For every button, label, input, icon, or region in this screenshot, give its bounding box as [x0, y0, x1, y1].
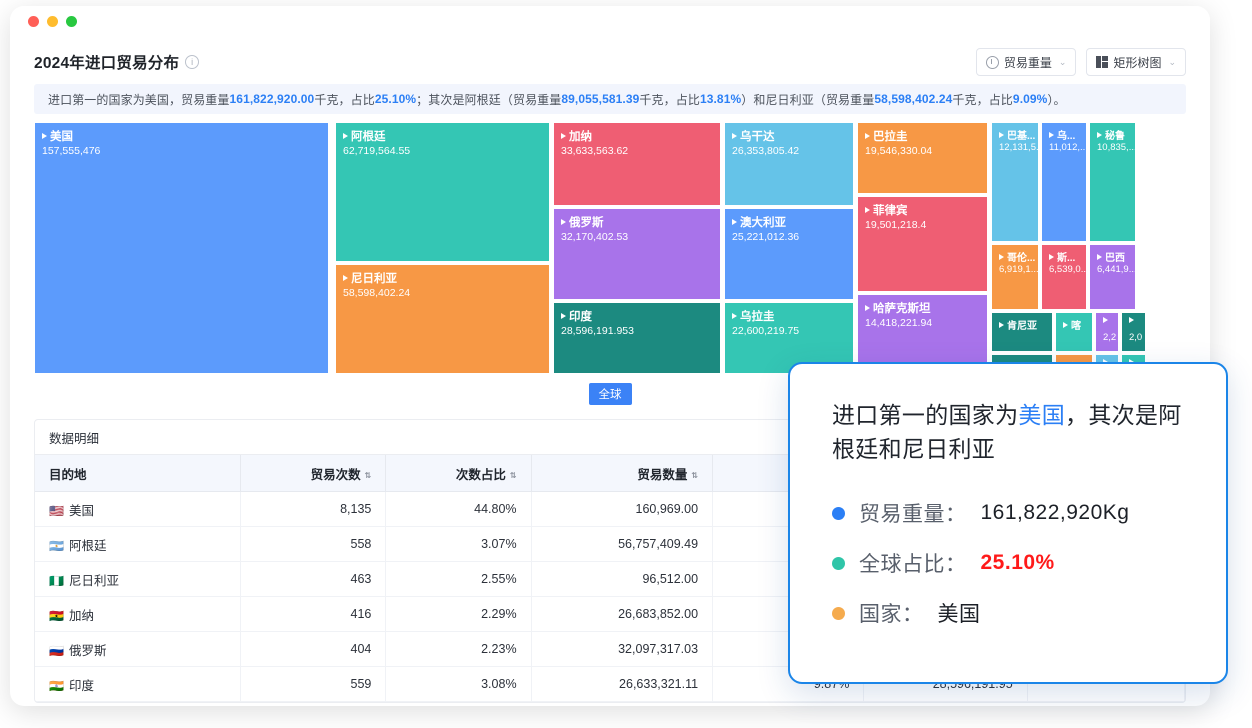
- banner-value-6: 9.09%: [1013, 92, 1048, 106]
- card-header: 2024年进口贸易分布 i 贸易重量 ⌄ 矩形树图 ⌄: [34, 42, 1186, 82]
- tooltip-title-part-1: 进口第一的国家为: [832, 402, 1018, 428]
- table-cell-destination: 🇷🇺俄罗斯: [35, 632, 241, 667]
- banner-part-4: 千克，占比: [639, 91, 700, 108]
- treemap-tile-name: 巴基...: [1007, 127, 1035, 142]
- treemap-tile-name: 肯尼亚: [1007, 317, 1037, 332]
- table-cell-destination: 🇮🇳印度: [35, 667, 241, 702]
- table-column-label: 贸易次数: [311, 468, 361, 482]
- treemap-tile-value: 22,600,219.75: [732, 325, 799, 337]
- table-cell-qty: 26,633,321.11: [531, 667, 713, 702]
- caret-right-icon: [732, 133, 737, 139]
- caret-right-icon: [561, 219, 566, 225]
- treemap-tile[interactable]: 2,2: [1095, 312, 1119, 352]
- treemap-tile-value: 11,012,...: [1049, 142, 1087, 153]
- treemap-tile-label: 巴拉圭: [865, 128, 908, 144]
- tooltip-metric-value: 161,822,920Kg: [981, 501, 1130, 525]
- treemap-tile-name: 秘鲁: [1105, 127, 1125, 142]
- treemap-tile[interactable]: 巴基...12,131,5...: [991, 122, 1039, 242]
- treemap-tile[interactable]: 美国157,555,476: [34, 122, 329, 374]
- treemap-tile-value: 58,598,402.24: [343, 287, 410, 299]
- treemap-tile-value: 6,539,0...: [1049, 264, 1087, 275]
- table-column-label: 贸易数量: [637, 468, 687, 482]
- treemap-tile-label: 加纳: [561, 128, 592, 144]
- window-minimize-button[interactable]: [47, 16, 58, 27]
- treemap-tile-label: 菲律宾: [865, 202, 908, 218]
- treemap-tile-name: 菲律宾: [873, 202, 908, 218]
- chart-type-select-label: 矩形树图: [1113, 54, 1161, 71]
- destination-name: 尼日利亚: [69, 574, 119, 588]
- treemap-tile-value: 14,418,221.94: [865, 317, 932, 329]
- treemap-tile-name: 巴拉圭: [873, 128, 908, 144]
- info-icon[interactable]: i: [185, 55, 199, 69]
- tooltip-bullet-icon: [832, 607, 845, 620]
- treemap-tile-value: 19,501,218.4: [865, 219, 926, 231]
- treemap-tile[interactable]: 俄罗斯32,170,402.53: [553, 208, 721, 300]
- caret-right-icon: [999, 254, 1004, 260]
- chevron-down-icon: ⌄: [1168, 57, 1176, 68]
- treemap-tile-name: 斯...: [1057, 249, 1075, 264]
- tooltip-metric-label: 贸易重量：: [859, 498, 967, 528]
- tooltip-title-highlight: 美国: [1018, 402, 1065, 428]
- sort-icon[interactable]: ⇅: [510, 472, 517, 480]
- treemap-tile-label: 俄罗斯: [561, 214, 604, 230]
- treemap-tile-value: 2,0: [1129, 332, 1142, 343]
- country-flag-icon: 🇬🇭: [49, 609, 64, 623]
- treemap-tile-value: 19,546,330.04: [865, 145, 932, 157]
- sort-icon[interactable]: ⇅: [691, 472, 698, 480]
- table-cell-trade-pct: 44.80%: [386, 492, 531, 527]
- caret-right-icon: [865, 305, 870, 311]
- treemap-tile-value: 12,131,5...: [999, 142, 1039, 153]
- treemap-tile-value: 157,555,476: [42, 145, 100, 157]
- country-flag-icon: 🇮🇳: [49, 679, 64, 693]
- treemap-tile-name: 哥伦...: [1007, 249, 1035, 264]
- treemap-tile-label: 阿根廷: [343, 128, 386, 144]
- table-cell-destination: 🇺🇸美国: [35, 492, 241, 527]
- caret-right-icon: [343, 275, 348, 281]
- banner-value-2: 25.10%: [375, 92, 416, 106]
- caret-right-icon: [561, 313, 566, 319]
- caret-right-icon: [1097, 254, 1102, 260]
- treemap-tile[interactable]: 印度28,596,191.953: [553, 302, 721, 374]
- country-flag-icon: 🇦🇷: [49, 539, 64, 553]
- treemap-tile-name: 哈萨克斯坦: [873, 300, 931, 316]
- caret-right-icon: [1129, 317, 1134, 323]
- table-cell-qty: 32,097,317.03: [531, 632, 713, 667]
- caret-right-icon: [1063, 322, 1068, 328]
- table-cell-trades: 404: [241, 632, 386, 667]
- destination-name: 阿根廷: [69, 539, 107, 553]
- treemap-tile[interactable]: 澳大利亚25,221,012.36: [724, 208, 854, 300]
- destination-name: 印度: [69, 679, 94, 693]
- country-flag-icon: 🇳🇬: [49, 574, 64, 588]
- tooltip-title: 进口第一的国家为美国，其次是阿根廷和尼日利亚: [832, 398, 1196, 466]
- caret-right-icon: [343, 133, 348, 139]
- treemap-tile-name: 阿根廷: [351, 128, 386, 144]
- caret-right-icon: [865, 207, 870, 213]
- treemap-tile[interactable]: 2,0: [1121, 312, 1146, 352]
- treemap-tile-name: 乌拉圭: [740, 308, 775, 324]
- table-column-label: 次数占比: [456, 468, 506, 482]
- caret-right-icon: [999, 322, 1004, 328]
- treemap-tile-value: 2,2: [1103, 332, 1116, 343]
- treemap-tile-value: 6,441,9...: [1097, 264, 1136, 275]
- header-actions: 贸易重量 ⌄ 矩形树图 ⌄: [976, 48, 1186, 76]
- treemap-tile-name: 加纳: [569, 128, 592, 144]
- metric-select-button[interactable]: 贸易重量 ⌄: [976, 48, 1077, 76]
- banner-value-3: 89,055,581.39: [561, 92, 639, 106]
- tooltip-metric-label: 全球占比：: [859, 548, 967, 578]
- tooltip-metric-value: 美国: [938, 598, 981, 628]
- treemap-tile[interactable]: 加纳33,633,563.62: [553, 122, 721, 206]
- treemap-tile-label: [1103, 317, 1111, 323]
- treemap-tile[interactable]: 秘鲁10,835,...: [1089, 122, 1136, 242]
- table-column-header: 目的地: [35, 455, 241, 492]
- treemap-chart[interactable]: 美国157,555,476阿根廷62,719,564.55尼日利亚58,598,…: [34, 122, 1146, 374]
- treemap-tile-label: 印度: [561, 308, 592, 324]
- sort-icon[interactable]: ⇅: [365, 472, 372, 480]
- table-column-header[interactable]: 贸易次数⇅: [241, 455, 386, 492]
- treemap-tile-name: 巴西: [1105, 249, 1125, 264]
- destination-name: 美国: [69, 504, 94, 518]
- table-cell-qty: 96,512.00: [531, 562, 713, 597]
- treemap-tile-label: 秘鲁: [1097, 127, 1125, 142]
- treemap-tile-value: 6,919,1...: [999, 264, 1039, 275]
- treemap-tile-value: 26,353,805.42: [732, 145, 799, 157]
- banner-value-1: 161,822,920.00: [230, 92, 315, 106]
- treemap-tile-label: [1129, 317, 1137, 323]
- table-cell-trades: 559: [241, 667, 386, 702]
- metric-select-label: 贸易重量: [1004, 54, 1052, 71]
- table-cell-trade-pct: 2.23%: [386, 632, 531, 667]
- treemap-tile-label: 肯尼亚: [999, 317, 1037, 332]
- banner-value-5: 58,598,402.24: [874, 92, 952, 106]
- caret-right-icon: [999, 132, 1004, 138]
- tooltip-metric-row: 全球占比：25.10%: [832, 538, 1196, 588]
- treemap-tile[interactable]: 哥伦...6,919,1...: [991, 244, 1039, 310]
- caret-right-icon: [732, 219, 737, 225]
- banner-part-6: 千克，占比: [952, 91, 1013, 108]
- window-close-button[interactable]: [28, 16, 39, 27]
- table-column-header[interactable]: 次数占比⇅: [386, 455, 531, 492]
- treemap-tile-label: 尼日利亚: [343, 270, 397, 286]
- tooltip-metric-row: 贸易重量：161,822,920Kg: [832, 488, 1196, 538]
- table-cell-qty: 26,683,852.00: [531, 597, 713, 632]
- chart-tooltip-popup: 进口第一的国家为美国，其次是阿根廷和尼日利亚 贸易重量：161,822,920K…: [788, 362, 1228, 684]
- destination-name: 俄罗斯: [69, 644, 107, 658]
- table-cell-trades: 416: [241, 597, 386, 632]
- caret-right-icon: [561, 133, 566, 139]
- treemap-tile[interactable]: 尼日利亚58,598,402.24: [335, 264, 550, 374]
- treemap-tile-label: 巴基...: [999, 127, 1035, 142]
- treemap-tile-label: 乌拉圭: [732, 308, 775, 324]
- country-flag-icon: 🇷🇺: [49, 644, 64, 658]
- tooltip-metric-label: 国家：: [859, 598, 924, 628]
- treemap-tile-label: 巴西: [1097, 249, 1125, 264]
- chart-type-select-button[interactable]: 矩形树图 ⌄: [1086, 48, 1186, 76]
- banner-part-1: 进口第一的国家为美国，贸易重量: [48, 91, 230, 108]
- banner-part-5: ）和尼日利亚（贸易重量: [741, 91, 874, 108]
- tooltip-bullet-icon: [832, 557, 845, 570]
- summary-banner: 进口第一的国家为美国，贸易重量161,822,920.00千克，占比25.10%…: [34, 84, 1186, 114]
- caret-right-icon: [1103, 317, 1108, 323]
- chevron-down-icon: ⌄: [1059, 57, 1067, 68]
- caret-right-icon: [42, 133, 47, 139]
- table-cell-destination: 🇦🇷阿根廷: [35, 527, 241, 562]
- treemap-tile-label: 乌...: [1049, 127, 1075, 142]
- treemap-tile-name: 乌干达: [740, 128, 775, 144]
- tooltip-metric-row: 国家：美国: [832, 588, 1196, 638]
- treemap-tile[interactable]: 斯...6,539,0...: [1041, 244, 1087, 310]
- treemap-tile[interactable]: 菲律宾19,501,218.4: [857, 196, 988, 292]
- treemap-tile-name: 尼日利亚: [351, 270, 397, 286]
- window-zoom-button[interactable]: [66, 16, 77, 27]
- treemap-tile-name: 印度: [569, 308, 592, 324]
- caret-right-icon: [1097, 132, 1102, 138]
- banner-part-2: 千克，占比: [314, 91, 375, 108]
- treemap-tile[interactable]: 喀: [1055, 312, 1093, 352]
- banner-part-3: ；其次是阿根廷（贸易重量: [416, 91, 561, 108]
- table-cell-trade-pct: 3.07%: [386, 527, 531, 562]
- treemap-tile-label: 乌干达: [732, 128, 775, 144]
- treemap-tile-label: 澳大利亚: [732, 214, 786, 230]
- global-scope-button[interactable]: 全球: [589, 383, 632, 405]
- treemap-tile-value: 33,633,563.62: [561, 145, 628, 157]
- treemap-tile[interactable]: 巴西6,441,9...: [1089, 244, 1136, 310]
- treemap-tile[interactable]: 乌...11,012,...: [1041, 122, 1087, 242]
- page-title-row: 2024年进口贸易分布 i: [34, 51, 199, 73]
- treemap-tile-name: 澳大利亚: [740, 214, 786, 230]
- treemap-tile-name: 美国: [50, 128, 73, 144]
- country-flag-icon: 🇺🇸: [49, 504, 64, 518]
- destination-name: 加纳: [69, 609, 94, 623]
- table-cell-qty: 56,757,409.49: [531, 527, 713, 562]
- caret-right-icon: [865, 133, 870, 139]
- treemap-tile-label: 哥伦...: [999, 249, 1035, 264]
- caret-right-icon: [732, 313, 737, 319]
- treemap-tile-name: 乌...: [1057, 127, 1075, 142]
- table-cell-trades: 8,135: [241, 492, 386, 527]
- clock-icon: [986, 56, 999, 69]
- treemap-tile-value: 62,719,564.55: [343, 145, 410, 157]
- caret-right-icon: [1049, 254, 1054, 260]
- treemap-tile-value: 25,221,012.36: [732, 231, 799, 243]
- treemap-tile[interactable]: 肯尼亚: [991, 312, 1053, 352]
- tooltip-bullet-icon: [832, 507, 845, 520]
- table-column-header[interactable]: 贸易数量⇅: [531, 455, 713, 492]
- treemap-tile[interactable]: 阿根廷62,719,564.55: [335, 122, 550, 262]
- treemap-tile-label: 喀: [1063, 317, 1081, 332]
- treemap-tile-label: 斯...: [1049, 249, 1075, 264]
- treemap-tile-value: 10,835,...: [1097, 142, 1136, 153]
- table-cell-trade-pct: 2.29%: [386, 597, 531, 632]
- window-titlebar: [10, 6, 1210, 36]
- table-cell-trade-pct: 2.55%: [386, 562, 531, 597]
- table-cell-trade-pct: 3.08%: [386, 667, 531, 702]
- banner-part-7: ）。: [1047, 91, 1065, 108]
- treemap-tile-value: 32,170,402.53: [561, 231, 628, 243]
- caret-right-icon: [1049, 132, 1054, 138]
- table-cell-trades: 463: [241, 562, 386, 597]
- page-title: 2024年进口贸易分布: [34, 51, 179, 73]
- treemap-tile[interactable]: 乌干达26,353,805.42: [724, 122, 854, 206]
- tooltip-metric-list: 贸易重量：161,822,920Kg全球占比：25.10%国家：美国: [832, 488, 1196, 638]
- banner-value-4: 13.81%: [700, 92, 741, 106]
- treemap-tile-label: 哈萨克斯坦: [865, 300, 931, 316]
- tooltip-metric-value: 25.10%: [981, 551, 1055, 575]
- treemap-tile-label: 美国: [42, 128, 73, 144]
- table-column-label: 目的地: [49, 468, 87, 482]
- table-cell-qty: 160,969.00: [531, 492, 713, 527]
- treemap-tile-value: 28,596,191.953: [561, 325, 634, 337]
- table-cell-destination: 🇬🇭加纳: [35, 597, 241, 632]
- treemap-tile[interactable]: 巴拉圭19,546,330.04: [857, 122, 988, 194]
- treemap-tile-name: 俄罗斯: [569, 214, 604, 230]
- treemap-tile-name: 喀: [1071, 317, 1081, 332]
- table-cell-destination: 🇳🇬尼日利亚: [35, 562, 241, 597]
- table-cell-trades: 558: [241, 527, 386, 562]
- treemap-icon: [1096, 56, 1108, 68]
